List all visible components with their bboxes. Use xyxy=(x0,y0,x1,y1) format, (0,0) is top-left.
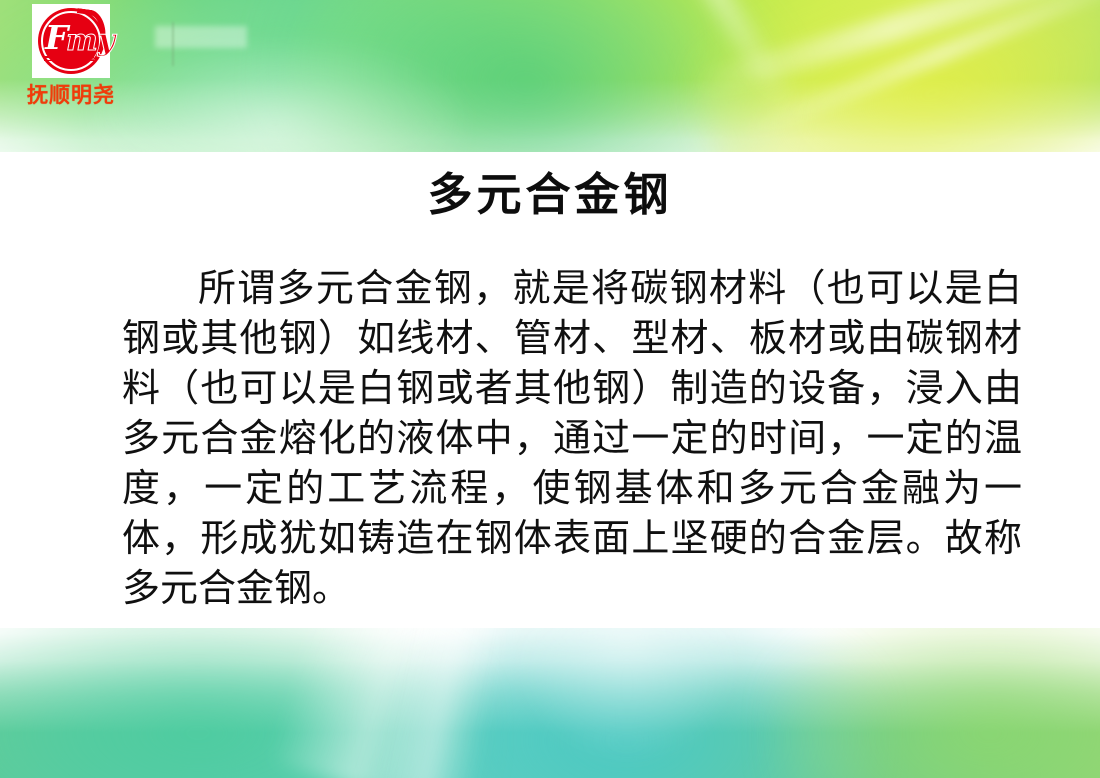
slide-content: 多元合金钢 所谓多元合金钢，就是将碳钢材料（也可以是白钢或其他钢）如线材、管材、… xyxy=(0,0,1100,778)
logo-letter-f: F xyxy=(45,21,67,54)
logo-letter-my: my xyxy=(66,26,115,56)
logo-mark-tile: F my xyxy=(32,4,110,78)
presentation-slide: F my 抚顺明尧 多元合金钢 所谓多元合金钢，就是将碳钢材料（也可以是白钢或其… xyxy=(0,0,1100,778)
slide-title: 多元合金钢 xyxy=(0,170,1100,220)
logo-underline-thick xyxy=(44,56,94,58)
company-logo: F my 抚顺明尧 xyxy=(16,0,126,107)
slide-body-paragraph: 所谓多元合金钢，就是将碳钢材料（也可以是白钢或其他钢）如线材、管材、型材、板材或… xyxy=(122,263,1022,613)
company-name-label: 抚顺明尧 xyxy=(16,84,126,107)
logo-underline-thin xyxy=(44,60,94,61)
